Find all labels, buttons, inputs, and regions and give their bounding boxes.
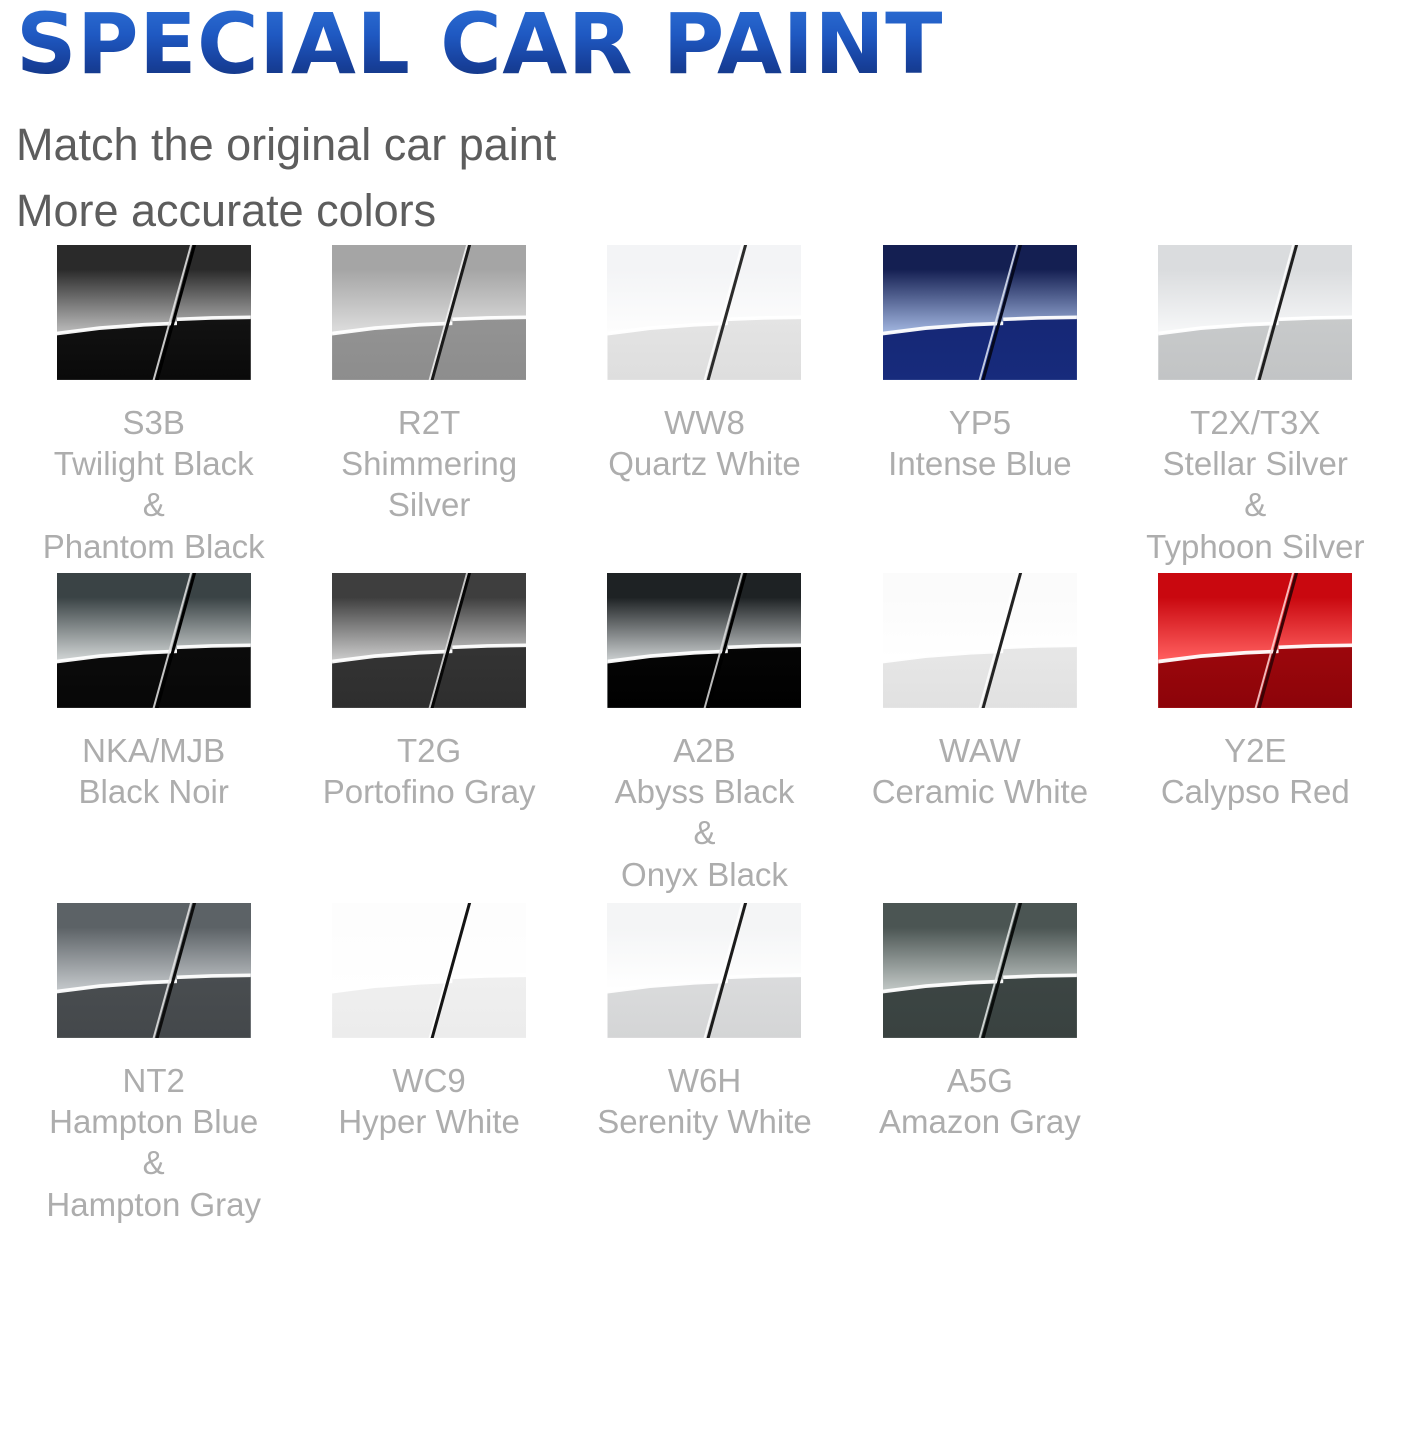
swatch-color-name: Black Noir (79, 771, 229, 812)
swatch-code: T2X/T3X (1146, 402, 1364, 443)
swatch-cell[interactable]: R2TShimmeringSilver (291, 245, 566, 567)
swatch-grid: S3BTwilight Black&Phantom BlackR2TShimme… (16, 245, 1393, 1225)
swatch-color-name: Amazon Gray (879, 1101, 1081, 1142)
swatch-caption: A5GAmazon Gray (879, 1060, 1081, 1143)
swatch-color-name: Hyper White (338, 1101, 520, 1142)
subtitle-line-2: More accurate colors (16, 178, 1393, 245)
swatch-code: A2B (615, 730, 795, 771)
swatch-cell[interactable]: W6HSerenity White (567, 903, 842, 1225)
swatch-color-name: Quartz White (608, 443, 801, 484)
swatch-s3b-twilight-black[interactable] (57, 245, 251, 380)
swatch-code: NKA/MJB (79, 730, 229, 771)
swatch-waw-ceramic-white[interactable] (883, 573, 1077, 708)
swatch-y2e-calypso-red[interactable] (1158, 573, 1352, 708)
swatch-color-name: & (615, 812, 795, 853)
subtitle-block: Match the original car paint More accura… (16, 112, 1393, 245)
swatch-color-name: Phantom Black (43, 526, 265, 567)
swatch-color-name: & (46, 1142, 261, 1183)
swatch-code: WC9 (338, 1060, 520, 1101)
paint-chart-page: SPECIAL CAR PAINT Match the original car… (0, 0, 1409, 1433)
swatch-caption: YP5Intense Blue (888, 402, 1071, 485)
swatch-cell[interactable]: NKA/MJBBlack Noir (16, 573, 291, 895)
swatch-cell[interactable]: A5GAmazon Gray (842, 903, 1117, 1225)
swatch-t2g-portofino-gray[interactable] (332, 573, 526, 708)
page-title: SPECIAL CAR PAINT (16, 2, 1393, 88)
swatch-row: NKA/MJBBlack NoirT2GPortofino GrayA2BAby… (16, 573, 1393, 895)
swatch-caption: WC9Hyper White (338, 1060, 520, 1143)
swatch-color-name: Calypso Red (1161, 771, 1350, 812)
swatch-nka-mjb-black-noir[interactable] (57, 573, 251, 708)
swatch-color-name: Shimmering (341, 443, 517, 484)
swatch-cell[interactable]: WAWCeramic White (842, 573, 1117, 895)
swatch-color-name: & (43, 484, 265, 525)
swatch-caption: NKA/MJBBlack Noir (79, 730, 229, 813)
swatch-caption: T2X/T3XStellar Silver&Typhoon Silver (1146, 402, 1364, 567)
swatch-r2t-shimmering-silver[interactable] (332, 245, 526, 380)
swatch-wc9-hyper-white[interactable] (332, 903, 526, 1038)
swatch-w6h-serenity-white[interactable] (607, 903, 801, 1038)
swatch-caption: R2TShimmeringSilver (341, 402, 517, 526)
swatch-color-name: Serenity White (597, 1101, 812, 1142)
swatch-code: NT2 (46, 1060, 261, 1101)
swatch-caption: Y2ECalypso Red (1161, 730, 1350, 813)
swatch-caption: WW8Quartz White (608, 402, 801, 485)
swatch-caption: A2BAbyss Black&Onyx Black (615, 730, 795, 895)
swatch-color-name: Abyss Black (615, 771, 795, 812)
swatch-cell[interactable]: T2GPortofino Gray (291, 573, 566, 895)
swatch-color-name: Onyx Black (615, 854, 795, 895)
swatch-color-name: Silver (341, 484, 517, 525)
swatch-code: R2T (341, 402, 517, 443)
swatch-color-name: Stellar Silver (1146, 443, 1364, 484)
swatch-cell[interactable]: YP5Intense Blue (842, 245, 1117, 567)
swatch-caption: S3BTwilight Black&Phantom Black (43, 402, 265, 567)
swatch-color-name: Hampton Blue (46, 1101, 261, 1142)
swatch-cell[interactable]: S3BTwilight Black&Phantom Black (16, 245, 291, 567)
swatch-t2x-t3x-stellar-silver[interactable] (1158, 245, 1352, 380)
swatch-cell[interactable]: A2BAbyss Black&Onyx Black (567, 573, 842, 895)
swatch-code: Y2E (1161, 730, 1350, 771)
swatch-color-name: Ceramic White (872, 771, 1088, 812)
swatch-code: S3B (43, 402, 265, 443)
swatch-caption: T2GPortofino Gray (323, 730, 536, 813)
swatch-code: WAW (872, 730, 1088, 771)
swatch-color-name: Typhoon Silver (1146, 526, 1364, 567)
swatch-cell[interactable]: WC9Hyper White (291, 903, 566, 1225)
swatch-color-name: Hampton Gray (46, 1184, 261, 1225)
swatch-color-name: Portofino Gray (323, 771, 536, 812)
swatch-cell[interactable]: T2X/T3XStellar Silver&Typhoon Silver (1118, 245, 1393, 567)
header: SPECIAL CAR PAINT Match the original car… (16, 0, 1393, 245)
swatch-code: WW8 (608, 402, 801, 443)
swatch-row: S3BTwilight Black&Phantom BlackR2TShimme… (16, 245, 1393, 567)
swatch-color-name: Intense Blue (888, 443, 1071, 484)
swatch-color-name: & (1146, 484, 1364, 525)
swatch-a2b-abyss-black[interactable] (607, 573, 801, 708)
swatch-cell[interactable]: NT2Hampton Blue&Hampton Gray (16, 903, 291, 1225)
swatch-caption: W6HSerenity White (597, 1060, 812, 1143)
swatch-nt2-hampton-blue[interactable] (57, 903, 251, 1038)
subtitle-line-1: Match the original car paint (16, 112, 1393, 179)
swatch-a5g-amazon-gray[interactable] (883, 903, 1077, 1038)
swatch-caption: NT2Hampton Blue&Hampton Gray (46, 1060, 261, 1225)
swatch-ww8-quartz-white[interactable] (607, 245, 801, 380)
swatch-code: W6H (597, 1060, 812, 1101)
swatch-cell[interactable]: Y2ECalypso Red (1118, 573, 1393, 895)
swatch-cell[interactable]: WW8Quartz White (567, 245, 842, 567)
swatch-caption: WAWCeramic White (872, 730, 1088, 813)
swatch-code: YP5 (888, 402, 1071, 443)
swatch-yp5-intense-blue[interactable] (883, 245, 1077, 380)
swatch-row: NT2Hampton Blue&Hampton GrayWC9Hyper Whi… (16, 903, 1393, 1225)
swatch-code: T2G (323, 730, 536, 771)
swatch-code: A5G (879, 1060, 1081, 1101)
swatch-color-name: Twilight Black (43, 443, 265, 484)
